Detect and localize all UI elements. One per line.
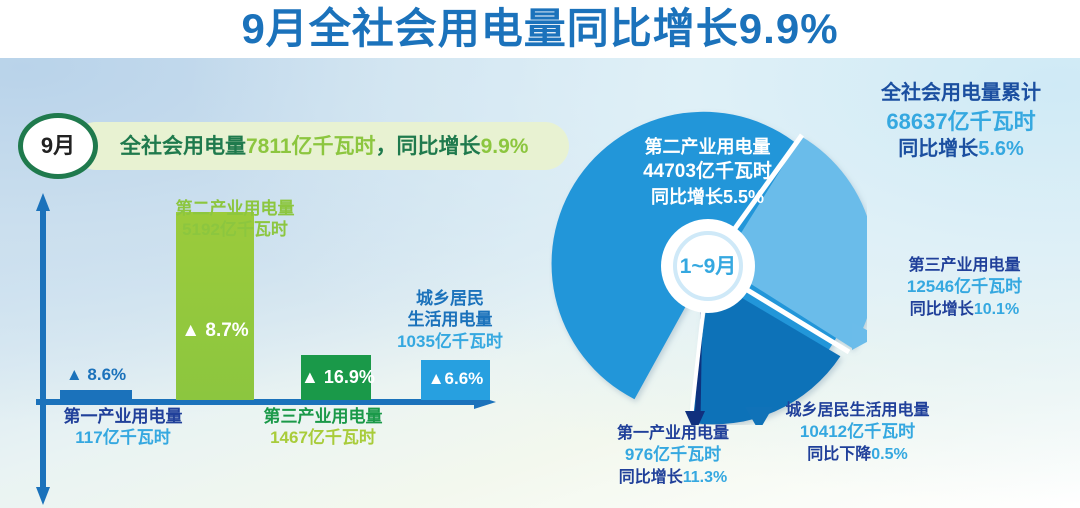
donut-label-resident-growth: 同比下降0.5% [750, 444, 965, 465]
month-badge-label: 9月 [41, 135, 75, 157]
page-title: 9月全社会用电量同比增长9.9% [241, 8, 838, 50]
bar-caption-resident-line1: 城乡居民 [370, 288, 530, 309]
donut-label-resident-value: 10412亿千瓦时 [750, 421, 965, 443]
donut-label-primary-name: 第一产业用电量 [578, 423, 768, 444]
donut-center-hub: 1~9月 [667, 225, 749, 307]
cumulative-summary: 全社会用电量累计 68637亿千瓦时 同比增长5.6% [845, 80, 1077, 163]
cumulative-summary-growth: 同比增长5.6% [845, 136, 1077, 163]
bar-primary-industry-pct: ▲ 8.6% [60, 365, 132, 385]
bar-caption-secondary-industry: 第二产业用电量 5192亿千瓦时 [140, 198, 330, 241]
bar-caption-primary-industry-value: 117亿千瓦时 [33, 427, 213, 448]
bar-caption-primary-industry-name: 第一产业用电量 [33, 406, 213, 427]
donut-pointer-tertiary-icon [852, 322, 867, 350]
infographic-root: 9月全社会用电量同比增长9.9% 全社会用电量7811亿千瓦时，同比增长9.9%… [0, 0, 1080, 508]
month-banner: 全社会用电量7811亿千瓦时，同比增长9.9% [72, 122, 569, 170]
donut-label-resident-growth-pct: 0.5% [871, 446, 907, 463]
bar-caption-tertiary-industry-name: 第三产业用电量 [228, 406, 418, 427]
cumulative-summary-title: 全社会用电量累计 [845, 80, 1077, 107]
bar-caption-secondary-industry-name: 第二产业用电量 [140, 198, 330, 219]
title-bar: 9月全社会用电量同比增长9.9% [0, 0, 1080, 58]
donut-label-tertiary-industry: 第三产业用电量 12546亿千瓦时 同比增长10.1% [852, 255, 1077, 320]
month-badge: 9月 [18, 113, 98, 179]
donut-label-resident-growth-label: 同比下降 [807, 446, 871, 463]
bar-caption-tertiary-industry-value: 1467亿千瓦时 [228, 427, 418, 448]
banner-growth: 9.9% [481, 135, 529, 158]
bar-resident-consumption-pct: ▲6.6% [421, 369, 490, 389]
cumulative-summary-growth-pct: 5.6% [978, 138, 1024, 160]
bar-caption-resident-line2: 生活用电量 [370, 309, 530, 330]
donut-label-primary-growth-pct: 11.3% [683, 469, 727, 486]
banner-prefix: 全社会用电量 [120, 135, 246, 158]
donut-label-tertiary-growth-label: 同比增长 [910, 301, 974, 318]
donut-label-primary-value: 976亿千瓦时 [578, 444, 768, 466]
donut-label-resident-consumption: 城乡居民生活用电量 10412亿千瓦时 同比下降0.5% [750, 400, 965, 465]
donut-center-label: 1~9月 [680, 256, 737, 277]
banner-value: 7811亿千瓦时 [246, 135, 376, 158]
donut-label-resident-name: 城乡居民生活用电量 [750, 400, 965, 421]
banner-mid: ，同比增长 [376, 135, 481, 158]
month-banner-text: 全社会用电量7811亿千瓦时，同比增长9.9% [120, 136, 528, 157]
donut-chart: 1~9月 [549, 107, 867, 425]
donut-label-primary-growth: 同比增长11.3% [578, 467, 768, 488]
bar-tertiary-industry-pct: ▲ 16.9% [301, 367, 371, 388]
cumulative-summary-value: 68637亿千瓦时 [845, 107, 1077, 136]
bar-caption-resident-consumption: 城乡居民 生活用电量 1035亿千瓦时 [370, 288, 530, 352]
donut-label-primary-industry: 第一产业用电量 976亿千瓦时 同比增长11.3% [578, 423, 768, 488]
bar-resident-consumption: ▲6.6% [421, 360, 490, 400]
donut-label-primary-growth-label: 同比增长 [619, 469, 683, 486]
bar-caption-resident-value: 1035亿千瓦时 [370, 331, 530, 352]
donut-label-tertiary-name: 第三产业用电量 [852, 255, 1077, 276]
bar-secondary-industry-pct: ▲ 8.7% [176, 320, 254, 342]
donut-label-tertiary-growth: 同比增长10.1% [852, 299, 1077, 320]
bar-tertiary-industry: ▲ 16.9% [301, 355, 371, 400]
bar-caption-tertiary-industry: 第三产业用电量 1467亿千瓦时 [228, 406, 418, 449]
cumulative-summary-growth-label: 同比增长 [898, 138, 978, 160]
donut-label-tertiary-growth-pct: 10.1% [974, 301, 1019, 318]
bar-primary-industry [60, 390, 132, 400]
bar-caption-secondary-industry-value: 5192亿千瓦时 [140, 219, 330, 240]
donut-label-tertiary-value: 12546亿千瓦时 [852, 276, 1077, 298]
bar-caption-primary-industry: 第一产业用电量 117亿千瓦时 [33, 406, 213, 449]
